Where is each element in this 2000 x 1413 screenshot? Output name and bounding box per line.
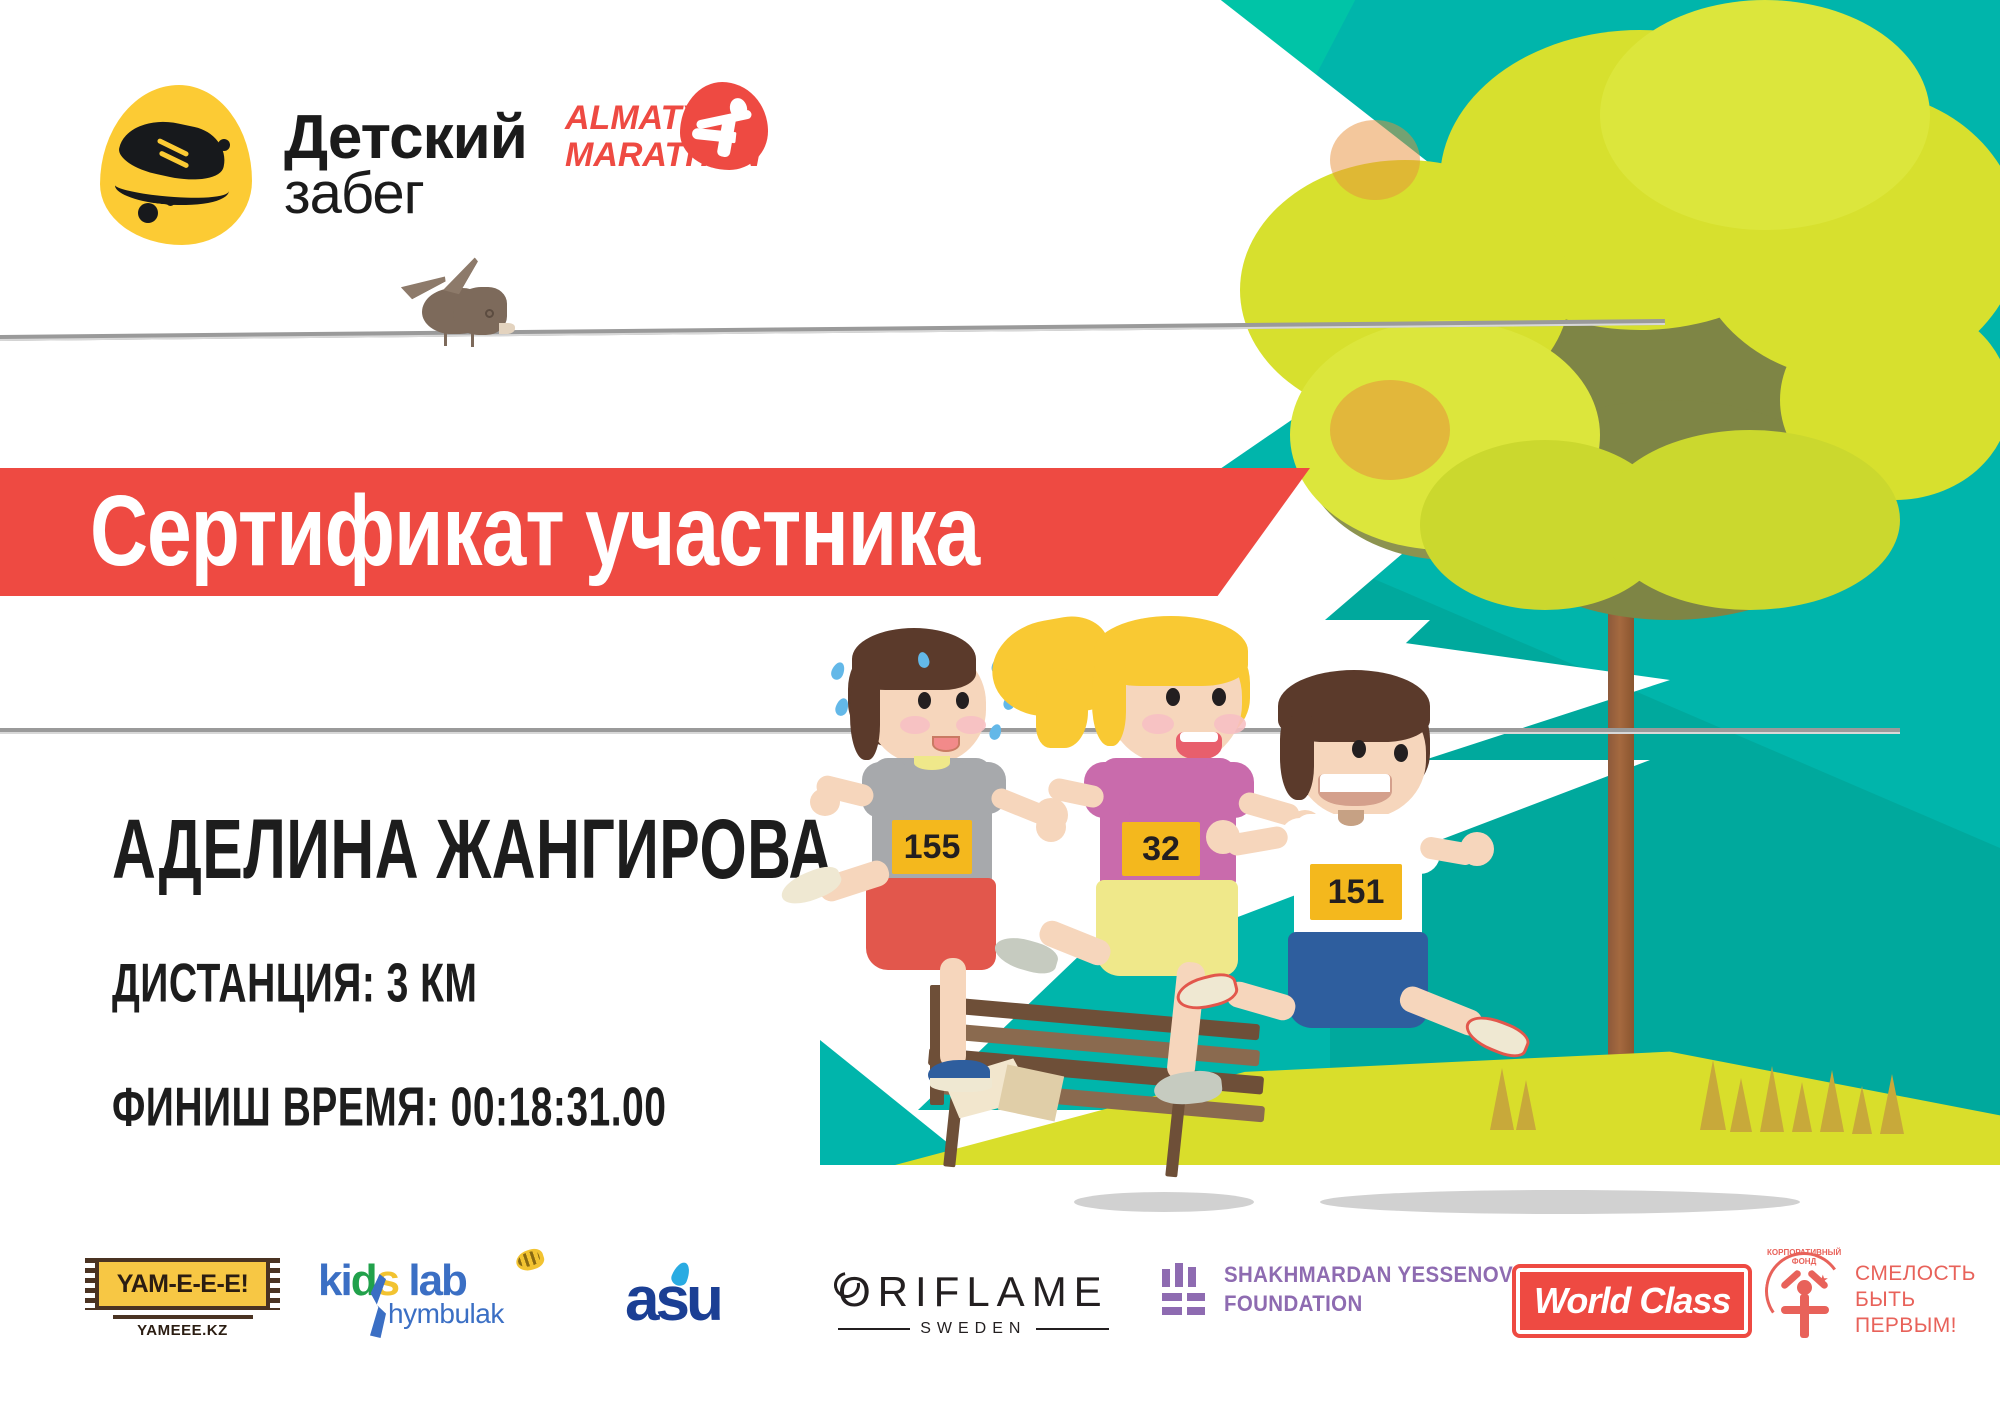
candy-wrapper-icon: YAM-E-E-E!: [95, 1258, 270, 1310]
bib-number: 32: [1122, 822, 1200, 876]
star-icon: ★: [1817, 1272, 1829, 1288]
participant-name: АДЕЛИНА ЖАНГИРОВА: [112, 800, 833, 897]
page-title: Сертификат участника: [90, 475, 979, 590]
sponsor-yameee-url: YAMEEE.KZ: [95, 1322, 270, 1339]
sideburn: [1280, 716, 1314, 800]
raised-arms-figure-icon: КОРПОРАТИВНЫЙ ФОНД ★: [1765, 1250, 1843, 1350]
tree-foliage-accent: [1330, 120, 1420, 200]
sponsor-yameee-label: YAM-E-E-E!: [117, 1270, 249, 1299]
sponsor-logo-strip: YAM-E-E-E! YAMEEE.KZ kids lab hymbulak a…: [0, 1250, 2000, 1370]
sponsor-asu[interactable]: asu: [625, 1264, 720, 1335]
bib-number: 155: [892, 820, 972, 874]
letter-l: l: [408, 1256, 418, 1305]
letter-b: b: [441, 1256, 466, 1305]
sideburn: [850, 672, 880, 760]
sponsor-smelost-line3: ПЕРВЫМ!: [1855, 1313, 1976, 1339]
divider: [838, 1328, 910, 1330]
tree-foliage-light: [1600, 430, 1900, 610]
sponsor-kidslab-wordmark: kids lab: [318, 1256, 548, 1306]
letter-d: d: [351, 1256, 376, 1305]
figure-shadow: [1074, 1192, 1254, 1212]
kids-run-logo-line2: забег: [284, 167, 527, 221]
sponsor-smelost-line1: СМЕЛОСТЬ: [1855, 1261, 1976, 1287]
sponsor-smelost-line2: БЫТЬ: [1855, 1287, 1976, 1313]
sponsor-world-class-wordmark: World Class: [1534, 1280, 1730, 1321]
sneaker-icon: [100, 85, 252, 245]
sponsor-oriflame-wordmark: ORIFLAME: [838, 1268, 1109, 1316]
shorts: [866, 878, 996, 970]
letter-k: k: [318, 1256, 340, 1305]
tree-foliage-light: [1600, 0, 1930, 230]
world-class-badge: World Class: [1516, 1268, 1748, 1334]
certificate-title-banner: Сертификат участника: [0, 468, 1310, 596]
sponsor-yameee[interactable]: YAM-E-E-E! YAMEEE.KZ: [95, 1258, 270, 1339]
sponsor-yessenov-line2: FOUNDATION: [1224, 1289, 1513, 1318]
sideburn: [1092, 660, 1126, 746]
kids-run-logo-line1: Детский: [284, 109, 527, 167]
bar-mark-icon: [1162, 1263, 1206, 1315]
certificate-canvas: Детский забег ALMATY MARATHON Сертификат…: [0, 0, 2000, 1413]
divider: [113, 1315, 253, 1319]
participant-details: АДЕЛИНА ЖАНГИРОВА ДИСТАНЦИЯ: 3 КМ ФИНИШ …: [112, 800, 895, 1124]
letter-i: i: [340, 1256, 350, 1305]
bib-number: 151: [1310, 864, 1402, 920]
sponsor-oriflame[interactable]: ORIFLAME SWEDEN: [838, 1268, 1109, 1338]
sponsor-world-class[interactable]: World Class: [1516, 1268, 1748, 1334]
almaty-marathon-logo: ALMATY MARATHON: [565, 100, 785, 173]
bee-icon: [514, 1246, 547, 1274]
letter-a: a: [419, 1256, 441, 1305]
sponsor-kidslab[interactable]: kids lab hymbulak: [318, 1256, 548, 1330]
sponsor-yessenov-foundation[interactable]: SHAKHMARDAN YESSENOV FOUNDATION: [1162, 1260, 1535, 1318]
shorts: [1288, 932, 1428, 1028]
participant-finish-time: ФИНИШ ВРЕМЯ: 00:18:31.00: [112, 1076, 841, 1138]
sponsor-oriflame-sub: SWEDEN: [920, 1320, 1026, 1338]
participant-distance: ДИСТАНЦИЯ: 3 КМ: [112, 952, 841, 1014]
shorts: [1096, 880, 1238, 976]
kids-run-logo: Детский забег: [100, 85, 527, 245]
sponsor-yessenov-line1: SHAKHMARDAN YESSENOV: [1224, 1260, 1513, 1289]
figure-shadow: [1320, 1190, 1800, 1214]
sponsor-smelost-byt-pervym[interactable]: КОРПОРАТИВНЫЙ ФОНД ★ СМЕЛОСТЬ БЫТЬ ПЕРВЫ…: [1765, 1250, 1976, 1350]
divider: [1036, 1328, 1108, 1330]
tree-foliage-accent: [1330, 380, 1450, 480]
